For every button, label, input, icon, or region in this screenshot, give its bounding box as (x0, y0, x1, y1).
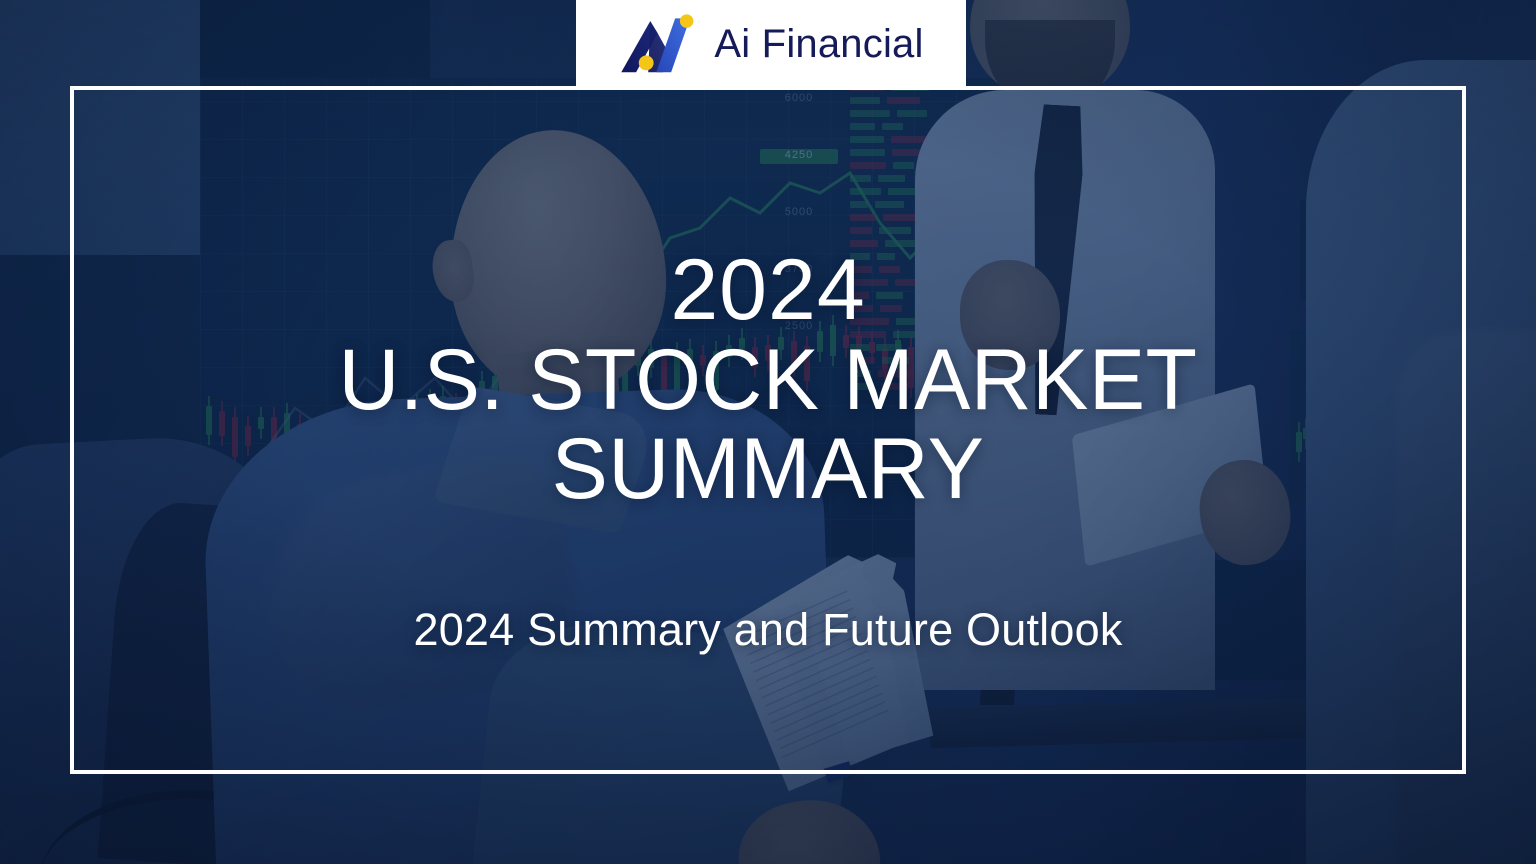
slide-canvas: 60004250500037502500 (0, 0, 1536, 864)
title-main: U.S. STOCK MARKET SUMMARY (180, 336, 1356, 513)
title-block: 2024 U.S. STOCK MARKET SUMMARY (168, 248, 1368, 513)
title-year: 2024 (168, 248, 1368, 332)
title-line-2: SUMMARY (180, 425, 1356, 514)
logo-wordmark: Ai Financial (714, 24, 923, 64)
slide-subtitle: 2024 Summary and Future Outlook (168, 604, 1368, 656)
title-line-1: U.S. STOCK MARKET (338, 332, 1197, 428)
ai-financial-arrow-logo-icon (618, 13, 700, 75)
logo-banner[interactable]: Ai Financial (576, 0, 966, 88)
